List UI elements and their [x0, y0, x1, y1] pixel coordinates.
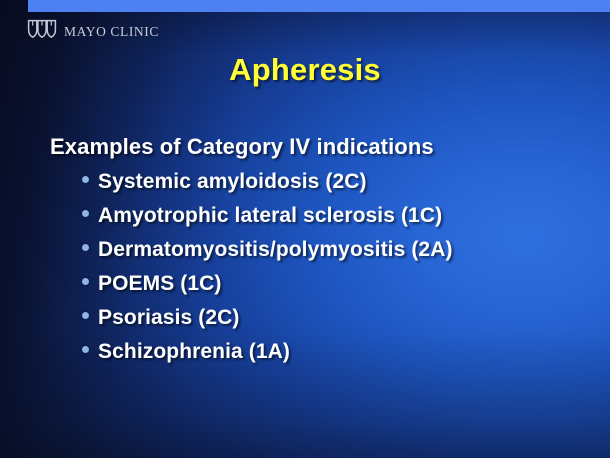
- mayo-clinic-logo: MAYO CLINIC: [27, 19, 159, 44]
- list-item: Systemic amyloidosis (2C): [82, 170, 453, 204]
- list-item: Amyotrophic lateral sclerosis (1C): [82, 204, 453, 238]
- slide-title: Apheresis: [0, 52, 610, 88]
- list-item-label: Systemic amyloidosis (2C): [98, 170, 367, 194]
- bullet-dot-icon: [82, 210, 89, 217]
- list-item-label: Schizophrenia (1A): [98, 340, 290, 364]
- list-item: POEMS (1C): [82, 272, 453, 306]
- slide-subheading: Examples of Category IV indications: [50, 134, 434, 160]
- bullet-dot-icon: [82, 346, 89, 353]
- list-item: Dermatomyositis/polymyositis (2A): [82, 238, 453, 272]
- list-item-label: Amyotrophic lateral sclerosis (1C): [98, 204, 442, 228]
- mayo-clinic-wordmark: MAYO CLINIC: [64, 24, 159, 40]
- list-item: Schizophrenia (1A): [82, 340, 453, 374]
- presentation-slide: MAYO CLINIC Apheresis Examples of Catego…: [0, 0, 610, 458]
- list-item: Psoriasis (2C): [82, 306, 453, 340]
- list-item-label: POEMS (1C): [98, 272, 222, 296]
- list-item-label: Psoriasis (2C): [98, 306, 239, 330]
- bullet-dot-icon: [82, 278, 89, 285]
- top-accent-bar: [28, 0, 610, 12]
- bullet-dot-icon: [82, 312, 89, 319]
- indications-bullet-list: Systemic amyloidosis (2C) Amyotrophic la…: [82, 170, 453, 374]
- bullet-dot-icon: [82, 244, 89, 251]
- list-item-label: Dermatomyositis/polymyositis (2A): [98, 238, 453, 262]
- bullet-dot-icon: [82, 176, 89, 183]
- mayo-clinic-three-shields-icon: [27, 19, 57, 44]
